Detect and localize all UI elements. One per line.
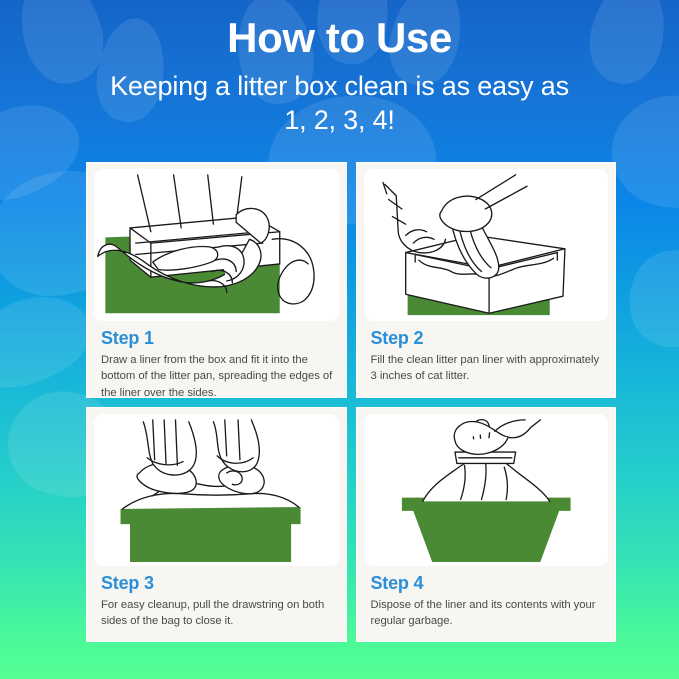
step-card-3: Step 3 For easy cleanup, pull the drawst… [86, 407, 347, 643]
steps-grid: Step 1 Draw a liner from the box and fit… [86, 162, 616, 642]
step-4-illustration [364, 414, 609, 566]
header: How to Use Keeping a litter box clean is… [0, 0, 679, 137]
step-3-body: For easy cleanup, pull the drawstring on… [101, 597, 333, 630]
step-3-heading: Step 3 [101, 573, 339, 594]
infographic-page: How to Use Keeping a litter box clean is… [0, 0, 679, 679]
step-card-2: Step 2 Fill the clean litter pan liner w… [356, 162, 617, 398]
step-2-body: Fill the clean litter pan liner with app… [371, 352, 603, 385]
subtitle-line-2: 1, 2, 3, 4! [0, 103, 679, 137]
step-1-heading: Step 1 [101, 328, 339, 349]
step-card-4: Step 4 Dispose of the liner and its cont… [356, 407, 617, 643]
step-2-heading: Step 2 [371, 328, 609, 349]
step-4-heading: Step 4 [371, 573, 609, 594]
paw-toe-icon [616, 238, 679, 359]
step-2-illustration [364, 169, 609, 321]
page-title: How to Use [0, 16, 679, 61]
step-3-illustration [94, 414, 339, 566]
subtitle-line-1: Keeping a litter box clean is as easy as [0, 69, 679, 103]
step-1-body: Draw a liner from the box and fit it int… [101, 352, 333, 398]
page-subtitle: Keeping a litter box clean is as easy as… [0, 69, 679, 137]
step-card-1: Step 1 Draw a liner from the box and fit… [86, 162, 347, 398]
step-4-body: Dispose of the liner and its contents wi… [371, 597, 603, 630]
step-1-illustration [94, 169, 339, 321]
